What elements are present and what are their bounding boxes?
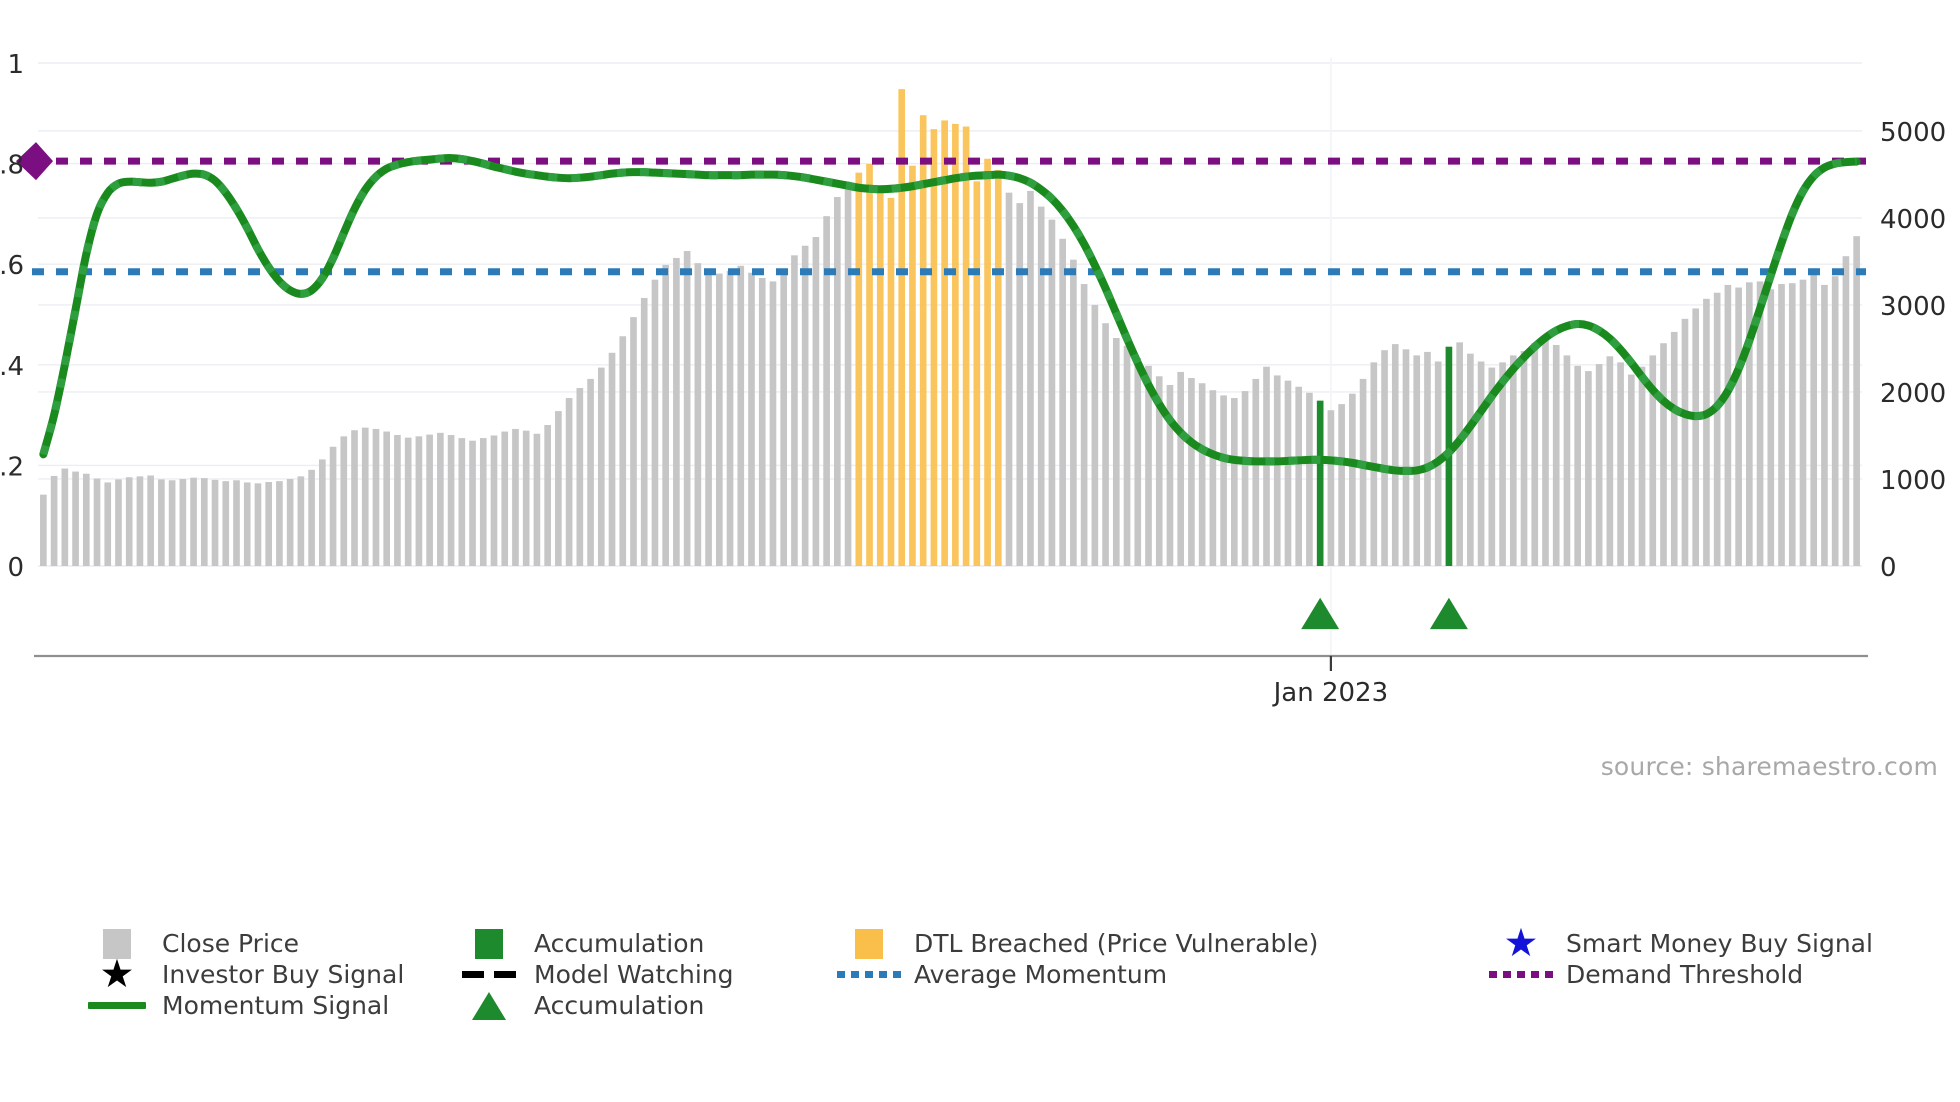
close-price-bar [609, 353, 616, 566]
close-price-bar [1832, 276, 1839, 566]
close-price-bar [1242, 391, 1249, 566]
close-price-bar [1843, 256, 1850, 566]
legend-item-momentum-signal[interactable]: Momentum Signal [86, 990, 458, 1021]
dtl-breached-bar [963, 127, 970, 566]
star-icon: ★ [100, 959, 135, 990]
close-price-bar [673, 258, 680, 566]
close-price-bar [51, 476, 58, 566]
close-price-bar [1714, 293, 1721, 566]
close-price-bar [1092, 305, 1099, 566]
close-price-bar [727, 271, 734, 566]
legend-item-accumulation-bar[interactable]: Accumulation [458, 928, 838, 959]
dtl-breached-bar [995, 170, 1002, 566]
close-price-bar [566, 398, 573, 566]
close-price-bar [1800, 280, 1807, 566]
close-price-bar [1510, 355, 1517, 566]
close-price-bar [1682, 319, 1689, 566]
close-price-bar [587, 379, 594, 566]
close-price-bar [147, 475, 154, 566]
close-price-bar [1124, 346, 1131, 566]
legend-item-label: Momentum Signal [162, 991, 389, 1020]
close-price-bar [845, 187, 852, 566]
close-price-bar [1531, 343, 1538, 566]
close-price-bar [244, 482, 251, 566]
close-price-bar [1628, 375, 1635, 566]
close-price-bar [791, 255, 798, 566]
close-price-bar [1821, 285, 1828, 566]
dtl-breached-bar [952, 124, 959, 566]
close-price-bar [598, 368, 605, 566]
dotted-line-icon [1489, 971, 1553, 978]
legend-item-label: DTL Breached (Price Vulnerable) [914, 929, 1318, 958]
close-price-bar [1478, 361, 1485, 566]
close-price-bar [137, 476, 144, 566]
close-price-bar [94, 479, 101, 566]
y-axis-right-tick-label: 3000 [1880, 292, 1946, 322]
close-price-bar [641, 298, 648, 566]
close-price-bar [1059, 239, 1066, 566]
legend-item-label: Demand Threshold [1566, 960, 1803, 989]
close-price-bar [276, 481, 283, 566]
close-price-bar [1413, 355, 1420, 566]
legend-item-dtl-breached[interactable]: DTL Breached (Price Vulnerable) [838, 928, 1490, 959]
dotted-line-icon [1490, 959, 1552, 990]
close-price-bar [458, 438, 465, 566]
close-price-bar [126, 477, 133, 566]
close-price-bar [1381, 350, 1388, 566]
close-price-bar [340, 436, 347, 566]
close-price-bar [716, 274, 723, 566]
close-price-bar [1789, 283, 1796, 566]
dtl-breached-bar [888, 198, 895, 566]
momentum-signal-line [43, 158, 1856, 471]
square-swatch-icon [855, 929, 883, 959]
close-price-bar [523, 431, 530, 566]
dotted-line-icon [838, 959, 900, 990]
close-price-bar [1134, 358, 1141, 566]
legend-item-accumulation-triangle[interactable]: Accumulation [458, 990, 838, 1021]
close-price-bar [619, 336, 626, 566]
close-price-bar [1199, 383, 1206, 566]
star-icon: ★ [1490, 928, 1552, 959]
close-price-bar [652, 280, 659, 566]
close-price-bar [802, 246, 809, 566]
dashed-line-icon [458, 959, 520, 990]
close-price-bar [1252, 379, 1259, 566]
close-price-bar [1016, 203, 1023, 566]
close-price-bar [1220, 395, 1227, 566]
y-axis-right-tick-label: 2000 [1880, 379, 1946, 409]
y-axis-right-tick-label: 5000 [1880, 118, 1946, 148]
close-price-bar [287, 479, 294, 566]
close-price-bar [813, 237, 820, 566]
close-price-bar [169, 480, 176, 566]
close-price-bar [362, 428, 369, 566]
close-price-bar [1188, 378, 1195, 566]
close-price-bar [1639, 367, 1646, 566]
close-price-bar [373, 429, 380, 566]
legend-item-smart-money-buy-signal[interactable]: ★Smart Money Buy Signal [1490, 928, 1930, 959]
close-price-bar [1102, 323, 1109, 566]
source-attribution: source: sharemaestro.com [1601, 752, 1938, 781]
close-price-bar [1177, 372, 1184, 566]
dtl-breached-bar [877, 187, 884, 566]
close-price-bar [308, 470, 315, 566]
model-watching-overlay [43, 158, 1856, 471]
close-price-bar [630, 317, 637, 566]
close-price-bar [1467, 354, 1474, 566]
close-price-bar [1810, 268, 1817, 566]
close-price-bar [104, 482, 111, 566]
close-price-bar [1424, 352, 1431, 566]
y-axis-right-tick-label: 4000 [1880, 205, 1946, 235]
x-axis-tick-label: Jan 2023 [1272, 678, 1389, 708]
star-icon: ★ [86, 959, 148, 990]
close-price-bar [834, 197, 841, 566]
close-price-bar [1853, 236, 1860, 566]
close-price-bar [512, 429, 519, 566]
y-axis-right-tick-label: 0 [1880, 553, 1897, 583]
close-price-bar [1392, 344, 1399, 566]
close-price-bar [115, 479, 122, 566]
close-price-bar [383, 432, 390, 566]
close-price-bar [469, 441, 476, 566]
close-price-bar [1499, 362, 1506, 566]
dtl-breached-bar [855, 173, 862, 566]
close-price-bar [780, 270, 787, 566]
close-price-bar [1703, 299, 1710, 566]
legend-item-label: Smart Money Buy Signal [1566, 929, 1873, 958]
accumulation-triangle [1301, 598, 1339, 629]
chart-legend: Close PriceAccumulationDTL Breached (Pri… [86, 928, 1936, 1021]
chart-root: Jan 2023Jul 2023Jan 2024Jul 2024Jan 2025… [0, 0, 1960, 1102]
close-price-bar [1671, 332, 1678, 566]
close-price-bar [737, 266, 744, 566]
close-price-bar [1006, 193, 1013, 566]
close-price-bar [1660, 343, 1667, 566]
close-price-bar [72, 472, 79, 566]
close-price-bar [759, 278, 766, 566]
close-price-bar [1725, 285, 1732, 566]
close-price-bar [1607, 356, 1614, 566]
close-price-bar [1617, 362, 1624, 566]
close-price-bar [1295, 387, 1302, 566]
close-price-bar [351, 430, 358, 566]
close-price-bar [1070, 260, 1077, 566]
solid-line-icon [86, 990, 148, 1021]
legend-item-label: Investor Buy Signal [162, 960, 404, 989]
triangle-icon [472, 992, 506, 1020]
close-price-bar [394, 435, 401, 566]
close-price-bar [1692, 308, 1699, 566]
close-price-bar [1735, 288, 1742, 566]
close-price-bar [416, 436, 423, 566]
close-price-bar [705, 268, 712, 566]
close-price-bar [480, 438, 487, 566]
close-price-bar [255, 483, 262, 566]
close-price-bar [1285, 381, 1292, 566]
legend-item-label: Average Momentum [914, 960, 1167, 989]
close-price-bar [1403, 349, 1410, 566]
accumulation-bar [1317, 401, 1324, 566]
close-price-bar [1306, 393, 1313, 566]
y-axis-left-tick-label: 0.8 [0, 151, 24, 181]
legend-item-demand-threshold[interactable]: Demand Threshold [1490, 959, 1930, 990]
legend-item-investor-buy-signal[interactable]: ★Investor Buy Signal [86, 959, 458, 990]
close-price-bar [201, 478, 208, 566]
square-swatch-icon [458, 928, 520, 959]
star-icon: ★ [1504, 928, 1539, 959]
close-price-bar [770, 281, 777, 566]
legend-item-label: Model Watching [534, 960, 734, 989]
close-price-bar [577, 388, 584, 566]
close-price-bar [426, 435, 433, 566]
close-price-bar [544, 425, 551, 566]
close-price-bar [1456, 342, 1463, 566]
close-price-bar [62, 469, 69, 566]
y-axis-right-tick-label: 1000 [1880, 466, 1946, 496]
close-price-bar [1338, 404, 1345, 566]
close-price-bar [319, 459, 326, 566]
close-price-bar [1349, 394, 1356, 566]
close-price-bar [1210, 390, 1217, 566]
triangle-icon [458, 990, 520, 1021]
close-price-bar [1553, 345, 1560, 566]
y-axis-left-tick-label: 0.4 [0, 352, 24, 382]
close-price-bar [448, 435, 455, 566]
close-price-bar [501, 432, 508, 566]
dotted-line-icon [837, 971, 901, 978]
y-axis-left-tick-label: 0 [7, 553, 24, 583]
dtl-breached-bar [931, 129, 938, 566]
close-price-bar [1564, 355, 1571, 566]
close-price-bar [748, 273, 755, 566]
close-price-bar [1038, 207, 1045, 566]
y-axis-left-tick-label: 1 [7, 50, 24, 80]
close-price-bar [1521, 351, 1528, 566]
close-price-bar [1585, 371, 1592, 566]
close-price-bar [695, 263, 702, 566]
close-price-bar [1263, 367, 1270, 566]
legend-item-model-watching[interactable]: Model Watching [458, 959, 838, 990]
close-price-bar [233, 480, 240, 566]
dtl-breached-bar [866, 164, 873, 566]
close-price-bar [222, 481, 229, 566]
legend-item-close-price[interactable]: Close Price [86, 928, 458, 959]
close-price-bar [1027, 191, 1034, 566]
accumulation-triangle [1430, 598, 1468, 629]
close-price-bar [662, 265, 669, 566]
y-axis-left-tick-label: 0.6 [0, 251, 24, 281]
close-price-bar [1574, 366, 1581, 566]
dtl-breached-bar [984, 159, 991, 566]
close-price-bar [1778, 284, 1785, 566]
solid-line-icon [88, 1002, 146, 1009]
close-price-bar [555, 411, 562, 566]
legend-item-average-momentum[interactable]: Average Momentum [838, 959, 1490, 990]
close-price-bar [180, 479, 187, 566]
close-price-bar [1081, 284, 1088, 566]
dtl-breached-bar [909, 166, 916, 566]
close-price-bar [1767, 289, 1774, 566]
close-price-bar [405, 438, 412, 566]
close-price-bar [40, 495, 47, 566]
close-price-bar [534, 434, 541, 566]
close-price-bar [1542, 338, 1549, 566]
legend-item-label: Accumulation [534, 929, 704, 958]
close-price-bar [491, 435, 498, 566]
close-price-bar [1328, 410, 1335, 566]
close-price-bar [1274, 375, 1281, 566]
close-price-bar [1360, 379, 1367, 566]
dtl-breached-bar [941, 120, 948, 566]
close-price-bar [265, 482, 272, 566]
square-swatch-icon [838, 928, 900, 959]
legend-item-label: Close Price [162, 929, 299, 958]
close-price-bar [1113, 338, 1120, 566]
close-price-bar [190, 478, 197, 566]
close-price-bar [158, 479, 165, 566]
square-swatch-icon [475, 929, 503, 959]
close-price-bar [83, 474, 90, 566]
y-axis-left-tick-label: 0.2 [0, 452, 24, 482]
close-price-bar [330, 447, 337, 566]
close-price-bar [684, 251, 691, 566]
close-price-bar [298, 476, 305, 566]
close-price-bar [212, 480, 219, 566]
close-price-bar [1596, 364, 1603, 566]
close-price-bar [437, 433, 444, 566]
dashed-line-icon [462, 971, 516, 978]
close-price-bar [1231, 398, 1238, 566]
legend-item-label: Accumulation [534, 991, 704, 1020]
dtl-breached-bar [974, 181, 981, 566]
